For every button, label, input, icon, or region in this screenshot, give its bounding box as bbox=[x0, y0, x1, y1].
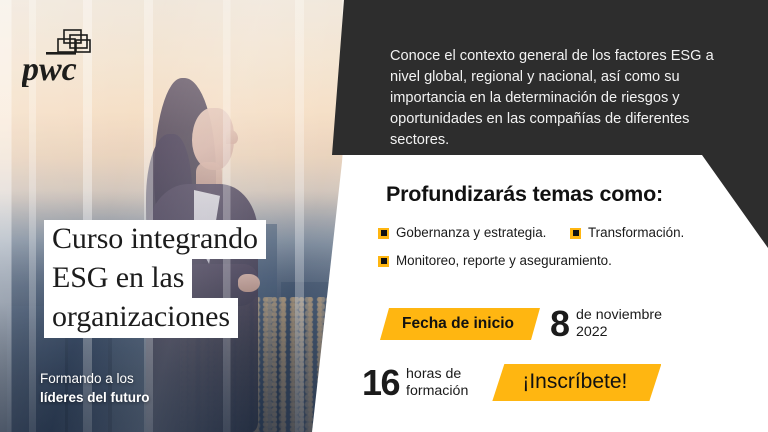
tagline-line-1: Formando a los bbox=[40, 370, 150, 389]
duration-hours: 16 bbox=[362, 365, 399, 401]
pwc-logo: pwc bbox=[22, 26, 118, 88]
start-date-chip: Fecha de inicio bbox=[380, 308, 540, 340]
pwc-wordmark: pwc bbox=[22, 51, 77, 88]
list-item: Monitoreo, reporte y aseguramiento. bbox=[378, 254, 612, 269]
duration-label-line-2: formación bbox=[406, 383, 468, 400]
svg-text:pwc: pwc bbox=[22, 51, 77, 88]
duration-label: horas de formación bbox=[406, 366, 468, 400]
page-title: Curso integrando ESG en las organizacion… bbox=[44, 220, 266, 338]
tagline-line-2: líderes del futuro bbox=[40, 389, 150, 408]
tagline: Formando a los líderes del futuro bbox=[40, 370, 150, 407]
start-date-year: 2022 bbox=[576, 324, 662, 341]
title-line-2: ESG en las bbox=[44, 259, 192, 298]
start-date-month: de noviembre bbox=[576, 307, 662, 324]
promo-banner: pwc Curso integrando ESG en las organiza… bbox=[0, 0, 768, 432]
title-line-1: Curso integrando bbox=[44, 220, 266, 259]
list-item: Gobernanza y estrategia. bbox=[378, 226, 570, 241]
start-date-month-year: de noviembre 2022 bbox=[576, 307, 662, 341]
list-item-label: Gobernanza y estrategia. bbox=[396, 226, 546, 241]
bullet-square-icon bbox=[378, 228, 389, 239]
list-item-label: Transformación. bbox=[588, 226, 684, 241]
intro-paragraph: Conoce el contexto general de los factor… bbox=[390, 46, 720, 152]
topics-row: Gobernanza y estrategia. Transformación. bbox=[378, 226, 762, 241]
duration-label-line-1: horas de bbox=[406, 366, 468, 383]
bullet-square-icon bbox=[570, 228, 581, 239]
list-item: Transformación. bbox=[570, 226, 684, 241]
start-date-day: 8 bbox=[550, 306, 569, 342]
bullet-square-icon bbox=[378, 256, 389, 267]
enroll-button[interactable]: ¡Inscríbete! bbox=[492, 364, 661, 401]
list-item-label: Monitoreo, reporte y aseguramiento. bbox=[396, 254, 612, 269]
start-date-row: Fecha de inicio 8 de noviembre 2022 bbox=[380, 306, 662, 342]
topics-heading: Profundizarás temas como: bbox=[386, 182, 663, 207]
title-line-3: organizaciones bbox=[44, 298, 238, 337]
topics-list: Gobernanza y estrategia. Transformación.… bbox=[378, 226, 762, 281]
duration-row: 16 horas de formación ¡Inscríbete! bbox=[362, 364, 661, 401]
topics-row: Monitoreo, reporte y aseguramiento. bbox=[378, 254, 762, 269]
pwc-logo-mark bbox=[58, 30, 90, 52]
